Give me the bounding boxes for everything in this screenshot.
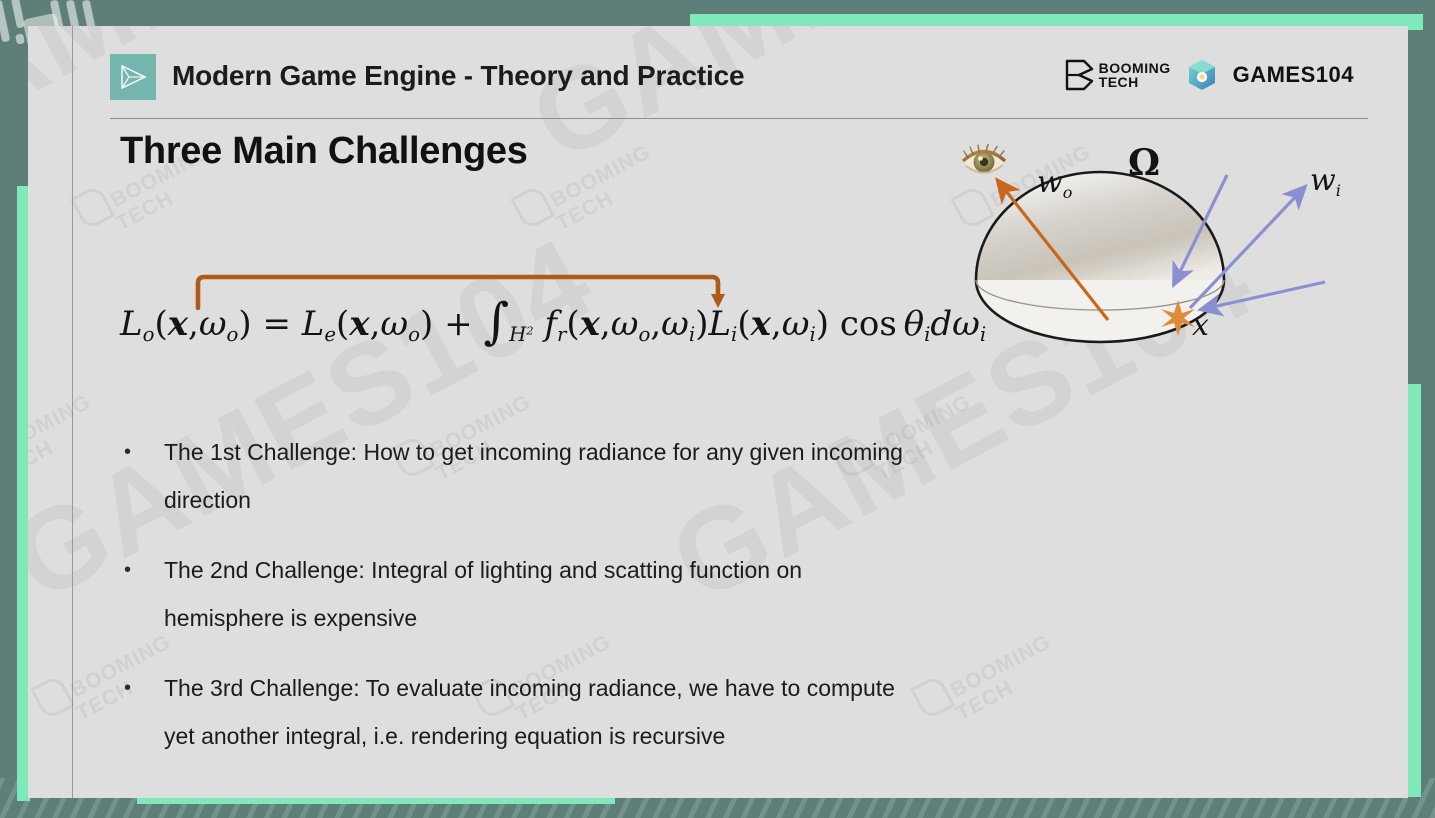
incoming-direction-label: wi [1310,163,1341,200]
page-title: Modern Game Engine - Theory and Practice [172,60,744,92]
games104-cube-icon [1185,58,1219,92]
slide-header: Modern Game Engine - Theory and Practice… [110,48,1368,118]
challenges-list: • The 1st Challenge: How to get incoming… [120,428,1020,782]
surface-point-label: x [1192,308,1209,343]
slide-margin-rule [72,26,73,798]
omega-label: Ω [1128,142,1160,184]
booming-line1: BOOMING [1099,61,1171,75]
list-item: • The 3rd Challenge: To evaluate incomin… [120,664,1020,760]
rendering-equation-block: Lo(x,ωo) = Le(x,ωo) + ∫H2 fr(x,ωo,ωi)Li(… [120,266,950,376]
bullet-marker: • [120,546,164,642]
booming-line2: TECH [1099,75,1171,89]
bullet-text: The 1st Challenge: How to get incoming r… [164,428,924,524]
booming-b-icon [1064,59,1094,91]
play-triangle-icon [110,54,156,100]
booming-tech-wordmark: BOOMING TECH [1099,61,1171,89]
slide-heading: Three Main Challenges [120,130,528,173]
games104-wordmark: GAMES104 [1233,62,1354,88]
bullet-text: The 2nd Challenge: Integral of lighting … [164,546,924,642]
rendering-equation: Lo(x,ωo) = Le(x,ωo) + ∫H2 fr(x,ωo,ωi)Li(… [120,304,986,346]
hemisphere-rendering-equation-diagram: Ω wo wi x [940,130,1360,370]
list-item: • The 2nd Challenge: Integral of lightin… [120,546,1020,642]
bullet-marker: • [120,428,164,524]
outgoing-direction-label: wo [1037,165,1072,202]
brand-logos: BOOMING TECH [1064,58,1354,92]
list-item: • The 1st Challenge: How to get incoming… [120,428,1020,524]
booming-tech-logo: BOOMING TECH [1064,59,1171,91]
eye-icon [963,145,1005,173]
slide-canvas: GAMES104 GAMES104 GAMES104 GAMES104 BOOM… [28,26,1408,798]
bullet-text: The 3rd Challenge: To evaluate incoming … [164,664,924,760]
bullet-marker: • [120,664,164,760]
watermark-booming-tech: BOOMINGTECH [28,380,105,498]
watermark-booming-tech: BOOMINGTECH [510,130,665,248]
header-divider [110,118,1368,119]
presentation-viewport: GAMES104 GAMES104 GAMES104 GAMES104 BOOM… [0,0,1435,818]
